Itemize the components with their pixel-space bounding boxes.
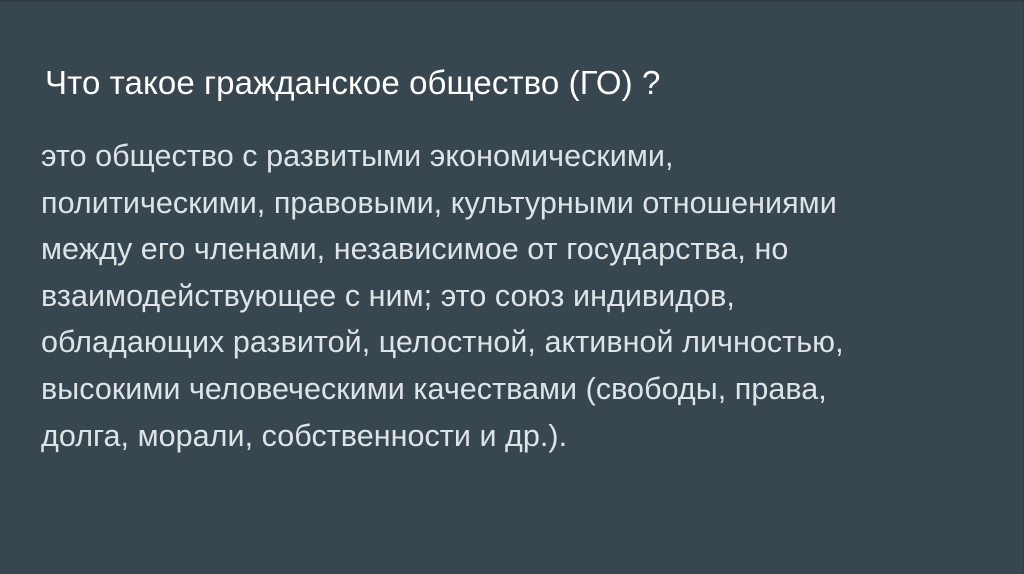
body-line: между его членами, независимое от госуда… xyxy=(41,226,981,273)
slide-title: Что такое гражданское общество (ГО) ? xyxy=(45,62,975,104)
body-line: это общество с развитыми экономическими, xyxy=(41,133,981,180)
presentation-slide: Что такое гражданское общество (ГО) ? эт… xyxy=(0,0,1024,574)
body-line: высокими человеческими качествами (свобо… xyxy=(41,366,981,413)
slide-body-text: это общество с развитыми экономическими,… xyxy=(41,133,981,459)
body-line: политическими, правовыми, культурными от… xyxy=(41,180,981,227)
body-line: взаимодействующее с ним; это союз индиви… xyxy=(41,273,981,320)
body-line: обладающих развитой, целостной, активной… xyxy=(41,319,981,366)
body-line: долга, морали, собственности и др.). xyxy=(41,413,981,460)
